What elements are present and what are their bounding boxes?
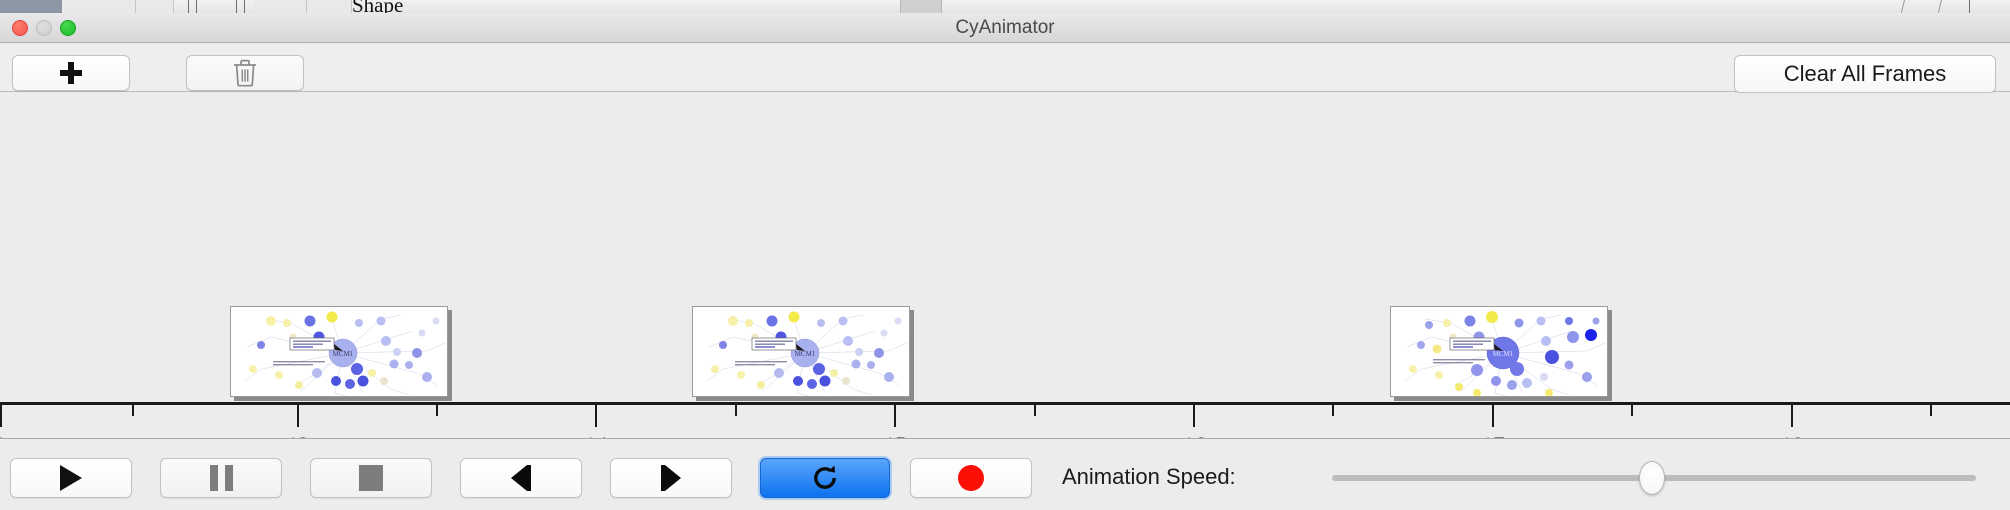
cyanimator-window: Shape CyAnimator Clear All Frames [0,0,2010,510]
stop-button[interactable] [310,458,432,498]
axis-tick-major [1791,405,1793,427]
play-icon [60,465,82,491]
axis-tick-major [1193,405,1195,427]
axis-tick-major [0,405,2,427]
frame-thumbnail-1[interactable]: MCM1 [230,306,452,401]
background-glyph-stroke [236,0,237,13]
frame-image: MCM1 [692,306,910,397]
background-glyph-stroke [244,0,245,13]
record-button[interactable] [910,458,1032,498]
axis-tick-major [595,405,597,427]
stop-icon [359,465,383,491]
record-icon [958,465,984,491]
axis-tick-minor [1034,405,1036,416]
animation-speed-slider[interactable] [1332,470,1976,486]
next-frame-button[interactable] [610,458,732,498]
loop-button[interactable] [760,458,890,498]
background-glyph-stroke [1901,0,1905,13]
frame-image: MCM1 [230,306,448,397]
slider-knob[interactable] [1639,461,1665,495]
svg-text:MCM1: MCM1 [333,350,354,358]
skip-back-icon [511,465,531,491]
axis-tick-minor [436,405,438,416]
background-glyph-stroke [1969,0,1970,13]
add-frame-button[interactable] [12,55,130,91]
background-window-strip: Shape [0,0,2010,13]
animation-speed-label: Animation Speed: [1062,464,1236,490]
plus-icon [60,62,82,84]
background-selected-cell [0,0,62,13]
background-cell [62,0,136,13]
axis-tick-minor [132,405,134,416]
axis-tick-minor [1631,405,1633,416]
background-cell [255,0,307,13]
background-glyph-stroke [188,0,189,13]
axis-tick-major [894,405,896,427]
trash-icon [232,58,258,88]
svg-text:MCM1: MCM1 [795,350,816,358]
axis-tick-minor [1332,405,1334,416]
play-button[interactable] [10,458,132,498]
background-cell [136,0,174,13]
frame-thumbnail-2[interactable]: MCM1 [692,306,914,401]
title-bar[interactable]: CyAnimator [0,13,2010,43]
axis-tick-minor [1930,405,1932,416]
previous-frame-button[interactable] [460,458,582,498]
timeline-frames-area[interactable]: MCM1 [0,93,2010,409]
frame-thumbnail-3[interactable]: MCM1 [1390,306,1612,401]
skip-forward-icon [661,465,681,491]
loop-icon [810,463,840,493]
background-glyph-stroke [1938,0,1942,13]
frame-image: MCM1 [1390,306,1608,397]
axis-tick-minor [735,405,737,416]
background-window-text: Shape [352,0,403,13]
timeline-axis-line [0,402,2010,405]
clear-all-frames-button[interactable]: Clear All Frames [1734,55,1996,93]
clear-all-frames-label: Clear All Frames [1784,61,1947,87]
axis-tick-major [1492,405,1494,427]
timeline-panel[interactable]: MCM1 [0,93,2010,409]
svg-text:MCM1: MCM1 [1493,350,1514,358]
background-cell [307,0,352,13]
pause-button[interactable] [160,458,282,498]
pause-icon [210,465,233,491]
axis-tick-major [297,405,299,427]
background-scrollbar [900,0,942,13]
background-glyph-stroke [196,0,197,13]
delete-frame-button[interactable] [186,55,304,91]
window-title: CyAnimator [0,13,2010,43]
